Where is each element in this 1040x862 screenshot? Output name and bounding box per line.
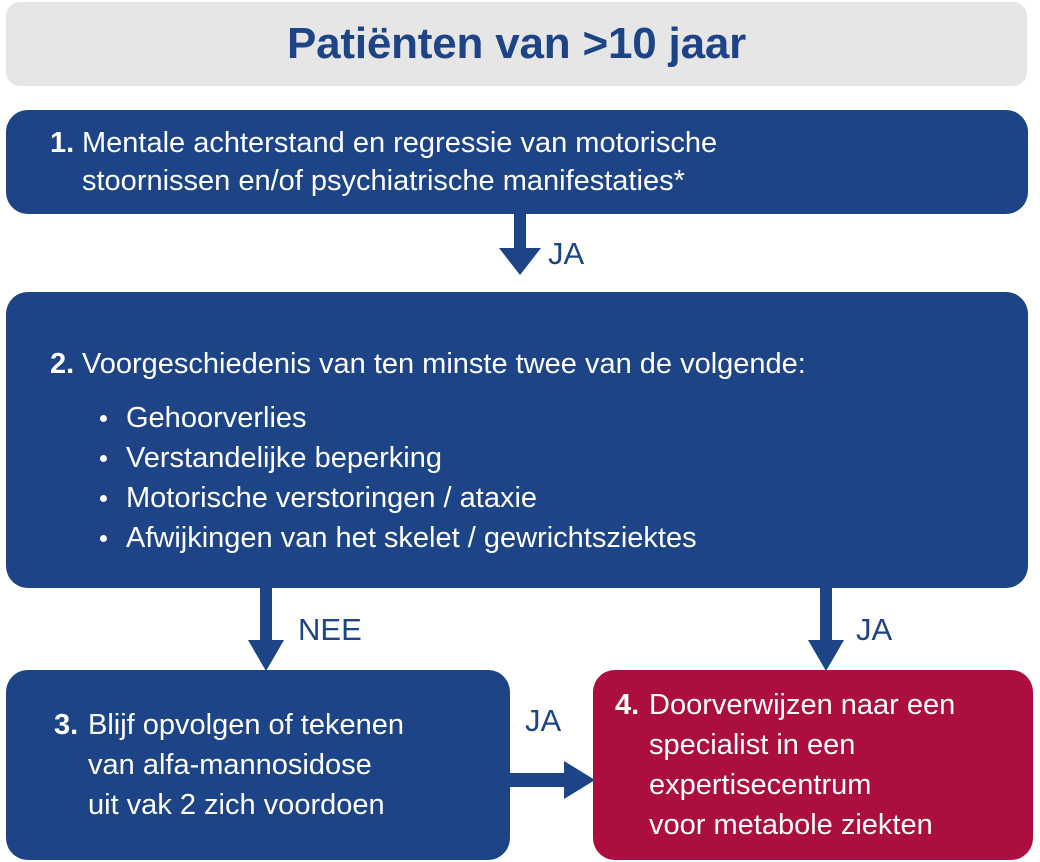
flow-node-3-number: 3.	[54, 705, 88, 745]
flow-node-4-line4: voor metabole ziekten	[615, 805, 1033, 845]
flow-node-4-text-line1: Doorverwijzen naar een	[649, 685, 955, 725]
flow-node-4-number: 4.	[615, 685, 649, 725]
flow-node-3-text-line2: van alfa-mannosidose	[88, 745, 372, 785]
flow-node-4-line2: specialist in een	[615, 725, 1033, 765]
edge-label-node2-to-node4: JA	[856, 614, 892, 645]
flow-node-2: 2. Voorgeschiedenis van ten minste twee …	[6, 292, 1028, 588]
flow-node-1-text-line2: stoornissen en/of psychiatrische manifes…	[82, 162, 685, 200]
list-item: Afwijkingen van het skelet / gewrichtszi…	[96, 518, 1028, 558]
edge-label-node2-to-node3: NEE	[298, 614, 362, 645]
flow-node-4-line1: 4. Doorverwijzen naar een	[615, 685, 1033, 725]
arrow-node2-to-node4	[806, 588, 846, 672]
flow-node-3-line3: uit vak 2 zich voordoen	[54, 785, 510, 825]
header-banner: Patiënten van >10 jaar	[6, 2, 1027, 86]
flow-node-1-line2: stoornissen en/of psychiatrische manifes…	[50, 162, 1028, 200]
flow-node-2-heading: Voorgeschiedenis van ten minste twee van…	[82, 344, 806, 384]
flow-node-2-number: 2.	[50, 344, 82, 384]
page-title: Patiënten van >10 jaar	[287, 22, 746, 66]
flow-node-4-line3: expertisecentrum	[615, 765, 1033, 805]
arrow-node3-to-node4	[506, 760, 596, 800]
flow-node-3-text-line1: Blijf opvolgen of tekenen	[88, 705, 404, 745]
flow-node-2-criteria-list: Gehoorverlies Verstandelijke beperking M…	[50, 398, 1028, 558]
flow-node-4-text-line3: expertisecentrum	[649, 765, 871, 805]
flowchart-canvas: Patiënten van >10 jaar 1. Mentale achter…	[0, 0, 1040, 862]
flow-node-3-text-line3: uit vak 2 zich voordoen	[88, 785, 385, 825]
list-item: Verstandelijke beperking	[96, 438, 1028, 478]
flow-node-4-text-line2: specialist in een	[649, 725, 855, 765]
arrow-node2-to-node3	[246, 588, 286, 672]
list-item: Gehoorverlies	[96, 398, 1028, 438]
edge-label-node1-to-node2: JA	[548, 238, 584, 269]
flow-node-1-number: 1.	[50, 124, 82, 162]
flow-node-1-text-line1: Mentale achterstand en regressie van mot…	[82, 124, 717, 162]
flow-node-3: 3. Blijf opvolgen of tekenen van alfa-ma…	[6, 670, 510, 860]
flow-node-3-line2: van alfa-mannosidose	[54, 745, 510, 785]
edge-label-node3-to-node4: JA	[525, 705, 561, 736]
flow-node-2-heading-line: 2. Voorgeschiedenis van ten minste twee …	[50, 344, 1028, 384]
flow-node-4: 4. Doorverwijzen naar een specialist in …	[593, 670, 1033, 860]
flow-node-3-line1: 3. Blijf opvolgen of tekenen	[54, 705, 510, 745]
flow-node-1: 1. Mentale achterstand en regressie van …	[6, 110, 1028, 214]
list-item: Motorische verstoringen / ataxie	[96, 478, 1028, 518]
flow-node-4-text-line4: voor metabole ziekten	[649, 805, 933, 845]
arrow-node1-to-node2	[496, 214, 544, 276]
flow-node-1-line1: 1. Mentale achterstand en regressie van …	[50, 124, 1028, 162]
